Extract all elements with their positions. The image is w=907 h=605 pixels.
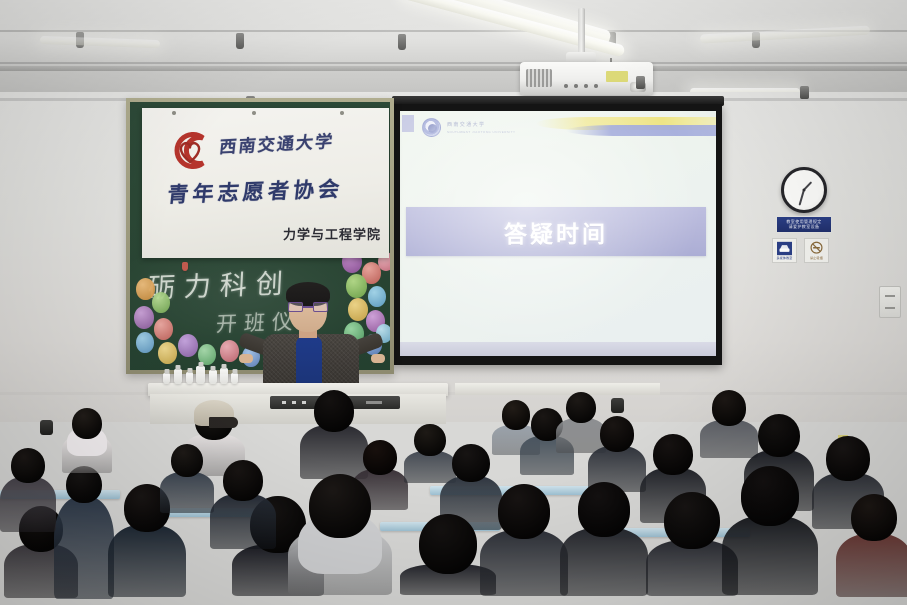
audience-member (836, 494, 907, 605)
projection-screen: 西南交通大学 SOUTHWEST JIAOTONG UNIVERSITY 答疑时… (394, 104, 722, 365)
water-bottle (163, 373, 170, 384)
ceiling-light (700, 26, 870, 44)
classroom-rules-sign: 教室使用管理规定 请爱护教室设备 (776, 216, 832, 233)
multimedia-room-sign: 多媒体教室 (772, 238, 797, 263)
audience-member-head (498, 484, 551, 539)
audience-member (722, 466, 818, 605)
presenter-hand-right (371, 354, 385, 363)
banner-association-name: 青年志愿者协会 (166, 173, 345, 209)
projector-vent (526, 69, 552, 87)
water-bottle (174, 369, 182, 384)
audience-member-head (664, 492, 719, 549)
slide-accent-blue (566, 125, 716, 136)
audience-member-body (560, 528, 648, 596)
audience-member-head (578, 482, 631, 537)
audience-member-head (712, 390, 747, 426)
audience-member-body (836, 534, 907, 598)
audience-member-body (54, 497, 114, 599)
audience-member (560, 482, 648, 605)
water-bottle (196, 366, 205, 384)
banner-university-name: 西南交通大学 (218, 127, 335, 158)
banner-school-name: 力学与工程学院 (283, 224, 381, 243)
ceiling-projector (520, 62, 653, 95)
ceiling (0, 0, 907, 96)
power-outlet[interactable] (879, 286, 901, 318)
audience-member (210, 460, 276, 556)
presenter-glasses-icon (288, 302, 328, 312)
water-bottle (220, 368, 228, 384)
classroom-photo: 西南交通大学 SOUTHWEST JIAOTONG UNIVERSITY 答疑时… (0, 0, 907, 605)
no-smoking-icon (808, 241, 825, 256)
slide-title-band: 答疑时间 (406, 207, 706, 256)
no-smoking-sign: 禁止吸烟 (804, 238, 829, 263)
audience-member (480, 484, 568, 605)
audience-member (288, 474, 392, 605)
audience-member-head (851, 494, 897, 541)
projector-sticker (606, 71, 628, 82)
slide-title: 答疑时间 (504, 215, 608, 249)
multimedia-sign-caption: 多媒体教室 (776, 257, 792, 260)
presenter-hand-left (239, 354, 253, 363)
audience-member-body (108, 525, 186, 598)
audience-member-body (480, 530, 568, 596)
audience-member-head (11, 448, 45, 483)
audience (0, 388, 907, 605)
slide-logo-en: SOUTHWEST JIAOTONG UNIVERSITY (447, 130, 516, 134)
audience-member-head (363, 440, 397, 475)
audience-member-head (171, 444, 203, 477)
heart-logo-icon (170, 132, 210, 170)
audience-member-head (314, 390, 355, 432)
rules-sign-line-2: 请爱护教室设备 (789, 225, 820, 229)
ceiling-light (40, 36, 160, 48)
audience-member-head (600, 416, 635, 452)
no-smoking-caption: 禁止吸烟 (810, 257, 823, 260)
water-bottle (209, 370, 217, 384)
slide-logo-cn: 西南交通大学 (447, 121, 516, 128)
event-banner: 西南交通大学 青年志愿者协会 力学与工程学院 (142, 108, 389, 258)
audience-member-head (309, 474, 371, 538)
audience-member-head (826, 436, 869, 481)
wall-clock (781, 167, 827, 213)
audience-member-head (419, 514, 477, 574)
audience-member-head (653, 434, 693, 475)
water-bottle (231, 373, 238, 384)
presentation-slide: 西南交通大学 SOUTHWEST JIAOTONG UNIVERSITY 答疑时… (400, 111, 716, 356)
audience-member-head (741, 466, 799, 526)
audience-member (0, 448, 56, 538)
slide-logo: 西南交通大学 SOUTHWEST JIAOTONG UNIVERSITY (410, 116, 520, 138)
audience-member-body (160, 472, 214, 513)
audience-member-body (210, 494, 276, 549)
audience-member-cap-brim (209, 417, 238, 428)
marker-pen (182, 262, 188, 271)
audience-member-head (223, 460, 263, 501)
audience-member-head (452, 444, 489, 482)
audience-member-body (722, 516, 818, 595)
audience-member-head (72, 408, 102, 439)
university-emblem-icon (422, 118, 441, 137)
audience-member (62, 408, 112, 478)
projector-pictogram-icon (776, 241, 793, 256)
water-bottle (186, 372, 193, 384)
audience-member (160, 444, 214, 518)
slide-footer-band (400, 342, 716, 356)
audience-member (54, 466, 114, 605)
audience-member-head (758, 414, 800, 457)
audience-member-body (0, 477, 56, 532)
